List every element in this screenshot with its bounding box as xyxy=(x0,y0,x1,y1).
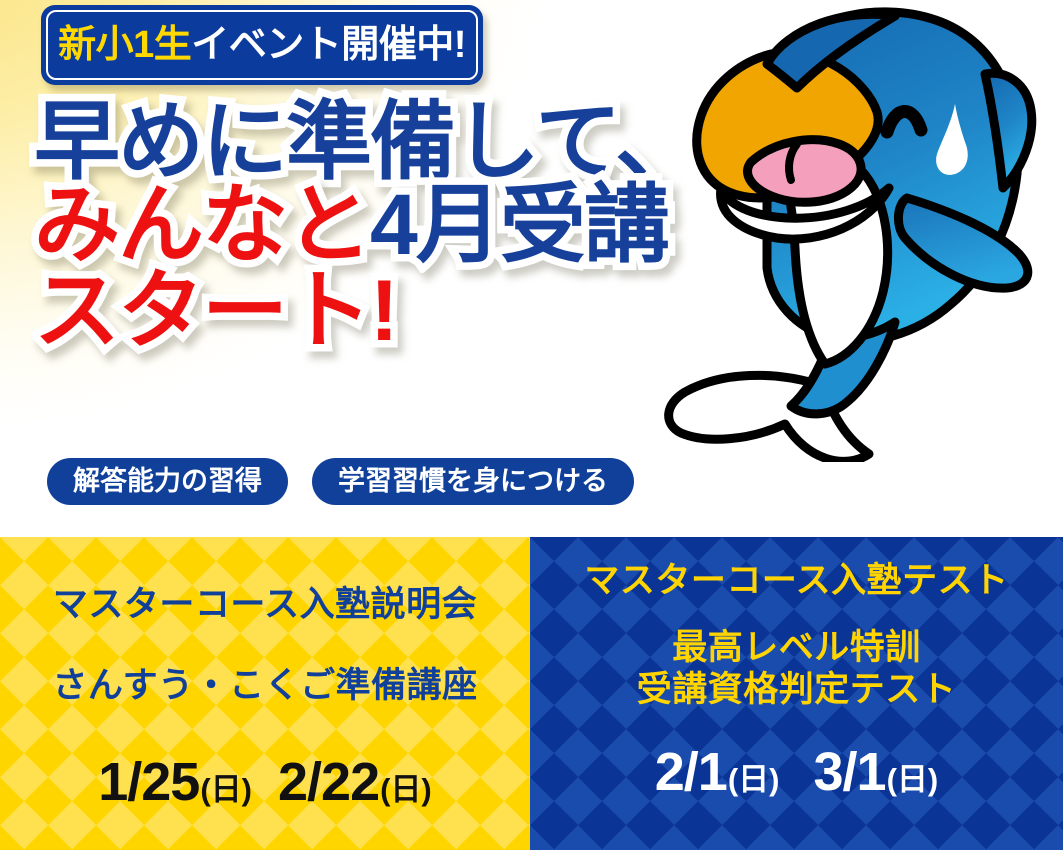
feature-pill-label: 解答能力の習得 xyxy=(73,468,262,495)
panel-left-dates: 1/25(日) 2/22(日) xyxy=(98,755,432,809)
date-weekday: (日) xyxy=(200,774,252,805)
event-badge-rest: イベント開催中! xyxy=(191,24,466,66)
panel-right-dates: 2/1(日) 3/1(日) xyxy=(655,745,938,799)
date-weekday: (日) xyxy=(380,774,432,805)
feature-pill-study-habit: 学習習慣を身につける xyxy=(312,458,634,505)
date-item: 1/25(日) xyxy=(98,755,252,809)
date-weekday: (日) xyxy=(887,764,939,795)
panel-master-course-test: マスターコース入塾テスト 最高レベル特訓 受講資格判定テスト 2/1(日) 3/… xyxy=(530,537,1063,850)
headline-line-2-blue: 4月受講 xyxy=(370,177,668,273)
event-badge-highlight: 新小1生 xyxy=(58,24,191,66)
date-value: 2/22 xyxy=(278,755,379,809)
feature-pill-label: 学習習慣を身につける xyxy=(338,468,608,495)
panel-master-course-briefing: マスターコース入塾説明会 さんすう・こくご準備講座 1/25(日) 2/22(日… xyxy=(0,537,530,850)
panel-left-subtitle: さんすう・こくご準備講座 xyxy=(52,665,477,707)
panel-right-title: マスターコース入塾テスト xyxy=(584,561,1008,601)
feature-pill-group: 解答能力の習得 学習習慣を身につける xyxy=(47,458,634,505)
date-item: 2/1(日) xyxy=(655,745,780,799)
event-badge-text: 新小1生イベント開催中! xyxy=(58,26,466,64)
event-panels: マスターコース入塾説明会 さんすう・こくご準備講座 1/25(日) 2/22(日… xyxy=(0,537,1063,850)
event-badge: 新小1生イベント開催中! xyxy=(41,5,483,85)
headline-line-2-red: みんなと xyxy=(34,177,370,273)
feature-pill-answer-ability: 解答能力の習得 xyxy=(47,458,288,505)
panel-right-subtitle: 最高レベル特訓 受講資格判定テスト xyxy=(637,627,957,711)
date-weekday: (日) xyxy=(728,764,780,795)
hero-section: 新小1生イベント開催中! 早めに準備して、 みんなと4月受講 スタート! 解答能… xyxy=(0,0,1063,537)
date-value: 3/1 xyxy=(814,745,886,799)
promo-banner: 新小1生イベント開催中! 早めに準備して、 みんなと4月受講 スタート! 解答能… xyxy=(0,0,1063,850)
panel-right-subtitle-line-1: 最高レベル特訓 xyxy=(637,627,957,669)
date-item: 3/1(日) xyxy=(814,745,939,799)
date-value: 1/25 xyxy=(98,755,199,809)
date-item: 2/22(日) xyxy=(278,755,432,809)
dolphin-mascot-icon xyxy=(655,0,1063,462)
panel-right-subtitle-line-2: 受講資格判定テスト xyxy=(637,669,957,711)
date-value: 2/1 xyxy=(655,745,727,799)
panel-left-title: マスターコース入塾説明会 xyxy=(53,585,477,625)
